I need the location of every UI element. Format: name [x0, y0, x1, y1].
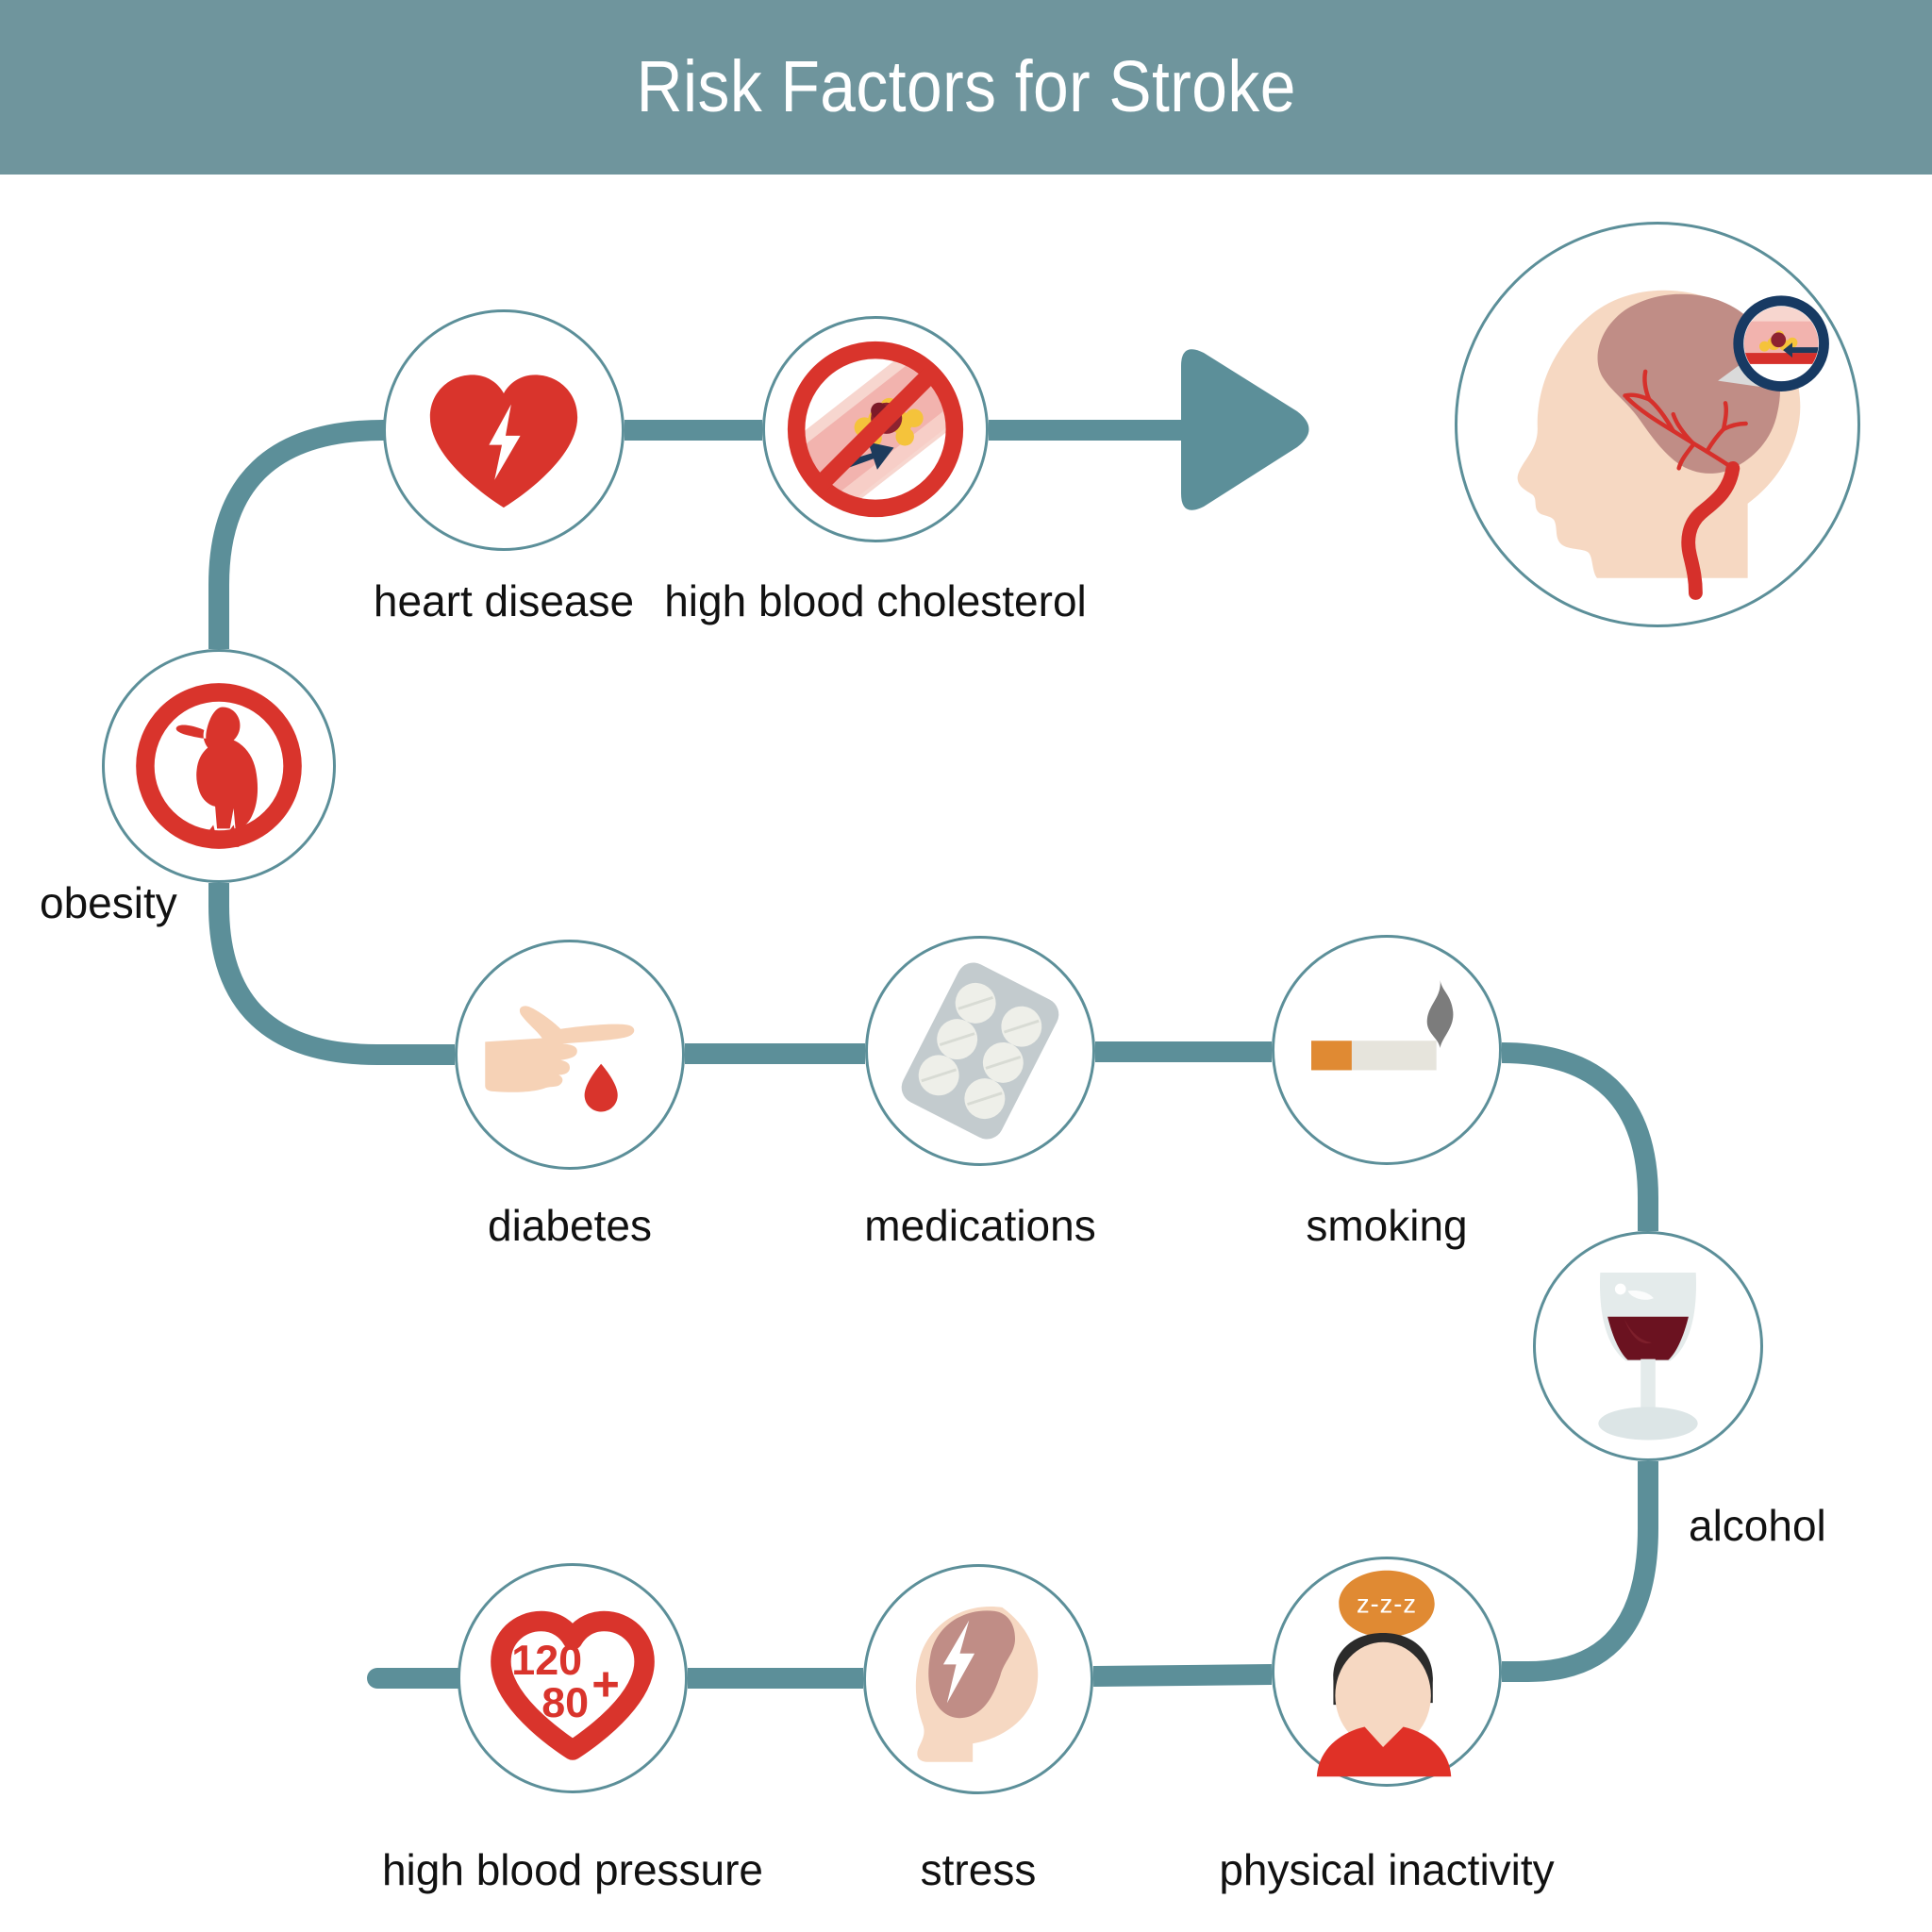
- sleepy-person-icon: z-z-z: [1274, 1559, 1499, 1784]
- label-high-blood-pressure: high blood pressure: [382, 1844, 763, 1895]
- blocked-artery-icon: [765, 319, 986, 540]
- node-obesity[interactable]: [102, 649, 336, 883]
- bp-heart-icon: 120 80 +: [460, 1566, 685, 1790]
- node-stress[interactable]: [863, 1564, 1093, 1794]
- stroke-brain-illustration: [1455, 222, 1860, 627]
- label-diabetes: diabetes: [488, 1200, 652, 1251]
- connector-obesity-to-diabetes: [219, 883, 455, 1055]
- label-alcohol: alcohol: [1689, 1500, 1826, 1551]
- page-title: Risk Factors for Stroke: [636, 45, 1295, 129]
- stressed-head-icon: [866, 1567, 1091, 1791]
- infographic-canvas: Risk Factors for Stroke: [0, 0, 1932, 1932]
- node-high-blood-pressure[interactable]: 120 80 +: [458, 1563, 688, 1793]
- bp-systolic-value: 120: [511, 1636, 582, 1684]
- connector-inactivity-to-stress: [1093, 1674, 1272, 1676]
- pill-blister-icon: [868, 939, 1092, 1163]
- node-physical-inactivity[interactable]: z-z-z: [1272, 1557, 1502, 1787]
- node-alcohol[interactable]: [1533, 1231, 1763, 1461]
- node-medications[interactable]: [865, 936, 1095, 1166]
- label-smoking: smoking: [1306, 1200, 1467, 1251]
- connector-alcohol-to-inactivity: [1502, 1461, 1648, 1672]
- sleep-bubble-text: z-z-z: [1357, 1590, 1417, 1619]
- node-heart-disease[interactable]: [383, 309, 625, 551]
- label-heart-disease: heart disease: [374, 575, 634, 626]
- label-high-blood-cholesterol: high blood cholesterol: [664, 575, 1087, 626]
- heart-bolt-icon: [386, 312, 622, 548]
- node-diabetes[interactable]: [455, 940, 685, 1170]
- bp-plus-sign: +: [591, 1657, 620, 1710]
- node-smoking[interactable]: [1272, 935, 1502, 1165]
- flow-arrow-head: [1181, 349, 1309, 510]
- label-medications: medications: [864, 1200, 1095, 1251]
- artery-plaque-inset: [1737, 301, 1830, 387]
- bp-diastolic-value: 80: [541, 1678, 589, 1726]
- wine-glass-icon: [1536, 1234, 1760, 1458]
- obesity-icon: [105, 652, 333, 880]
- finger-prick-icon: [458, 942, 682, 1167]
- page-header: Risk Factors for Stroke: [0, 0, 1932, 175]
- brain-illustration-svg: [1457, 225, 1857, 625]
- cigarette-icon: [1274, 938, 1499, 1162]
- label-stress: stress: [921, 1844, 1037, 1895]
- connector-obesity-to-heart: [219, 430, 387, 649]
- label-physical-inactivity: physical inactivity: [1219, 1844, 1554, 1895]
- node-high-blood-cholesterol[interactable]: [762, 316, 989, 542]
- label-obesity: obesity: [40, 877, 177, 928]
- connector-smoking-to-alcohol: [1502, 1053, 1648, 1231]
